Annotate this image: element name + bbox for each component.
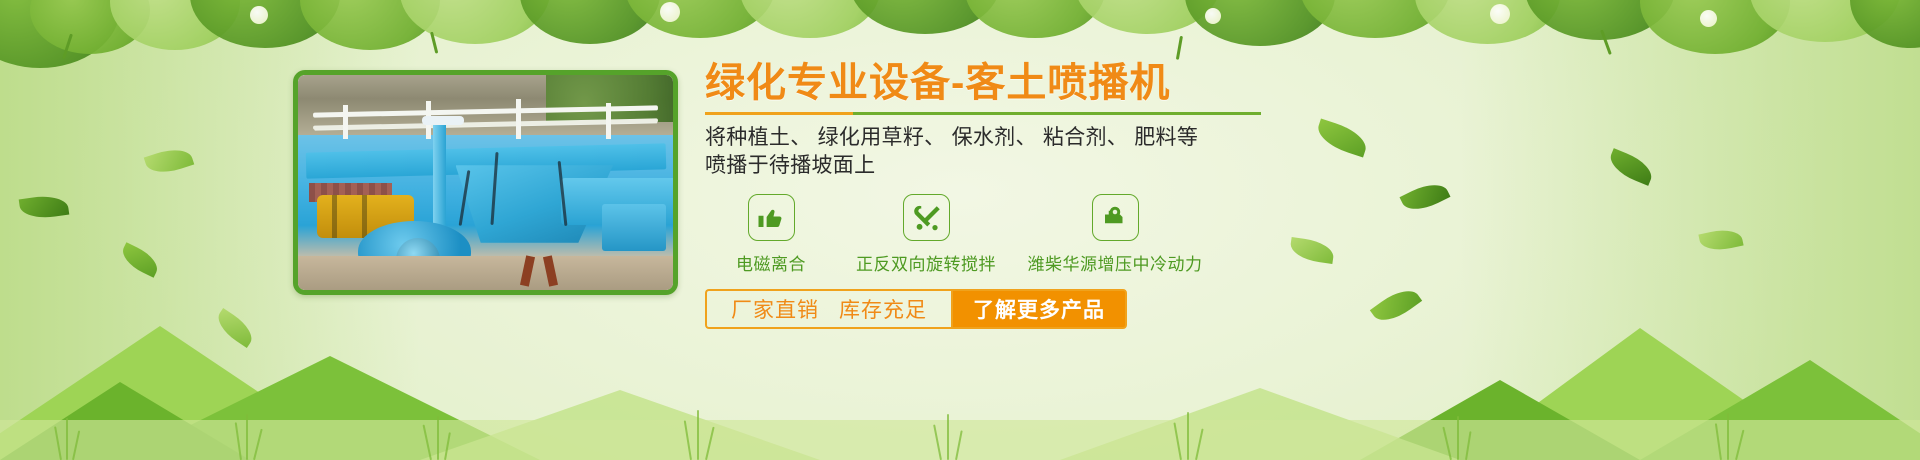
leaf-decoration	[1289, 237, 1335, 264]
leaf-decoration	[19, 193, 70, 221]
feature-list: 电磁离合 正反双向旋转搅拌	[705, 194, 1295, 275]
leaf-decoration	[1606, 148, 1657, 186]
product-photo-frame[interactable]	[293, 70, 678, 295]
leaf-decoration	[1400, 177, 1451, 217]
thumbs-up-icon	[756, 202, 786, 232]
feature-badge	[748, 194, 795, 241]
promo-banner: 绿化专业设备-客土喷播机 将种植土、 绿化用草籽、 保水剂、 粘合剂、 肥料等 …	[0, 0, 1920, 460]
product-photo	[298, 75, 673, 290]
feature-item-bidirectional-mixing[interactable]: 正反双向旋转搅拌	[837, 194, 1015, 275]
title-divider	[705, 112, 1261, 115]
feature-badge	[1092, 194, 1139, 241]
mountain-decoration-bottom	[0, 270, 1920, 460]
leaf-decoration	[144, 143, 195, 178]
feature-badge	[903, 194, 950, 241]
engine-icon	[1100, 202, 1130, 232]
subtitle: 将种植土、 绿化用草籽、 保水剂、 粘合剂、 肥料等 喷播于待播坡面上	[705, 124, 1295, 179]
subtitle-line-1: 将种植土、 绿化用草籽、 保水剂、 粘合剂、 肥料等	[705, 124, 1295, 152]
subtitle-line-2: 喷播于待播坡面上	[705, 152, 1295, 180]
leaf-decoration	[1314, 119, 1371, 158]
feature-item-electromagnetic-clutch[interactable]: 电磁离合	[705, 194, 837, 275]
leaf-decoration	[1698, 226, 1743, 254]
page-title: 绿化专业设备-客土喷播机	[705, 62, 1295, 105]
tools-icon	[911, 202, 941, 232]
feature-item-weichai-engine[interactable]: 潍柴华源增压中冷动力	[1015, 194, 1215, 275]
